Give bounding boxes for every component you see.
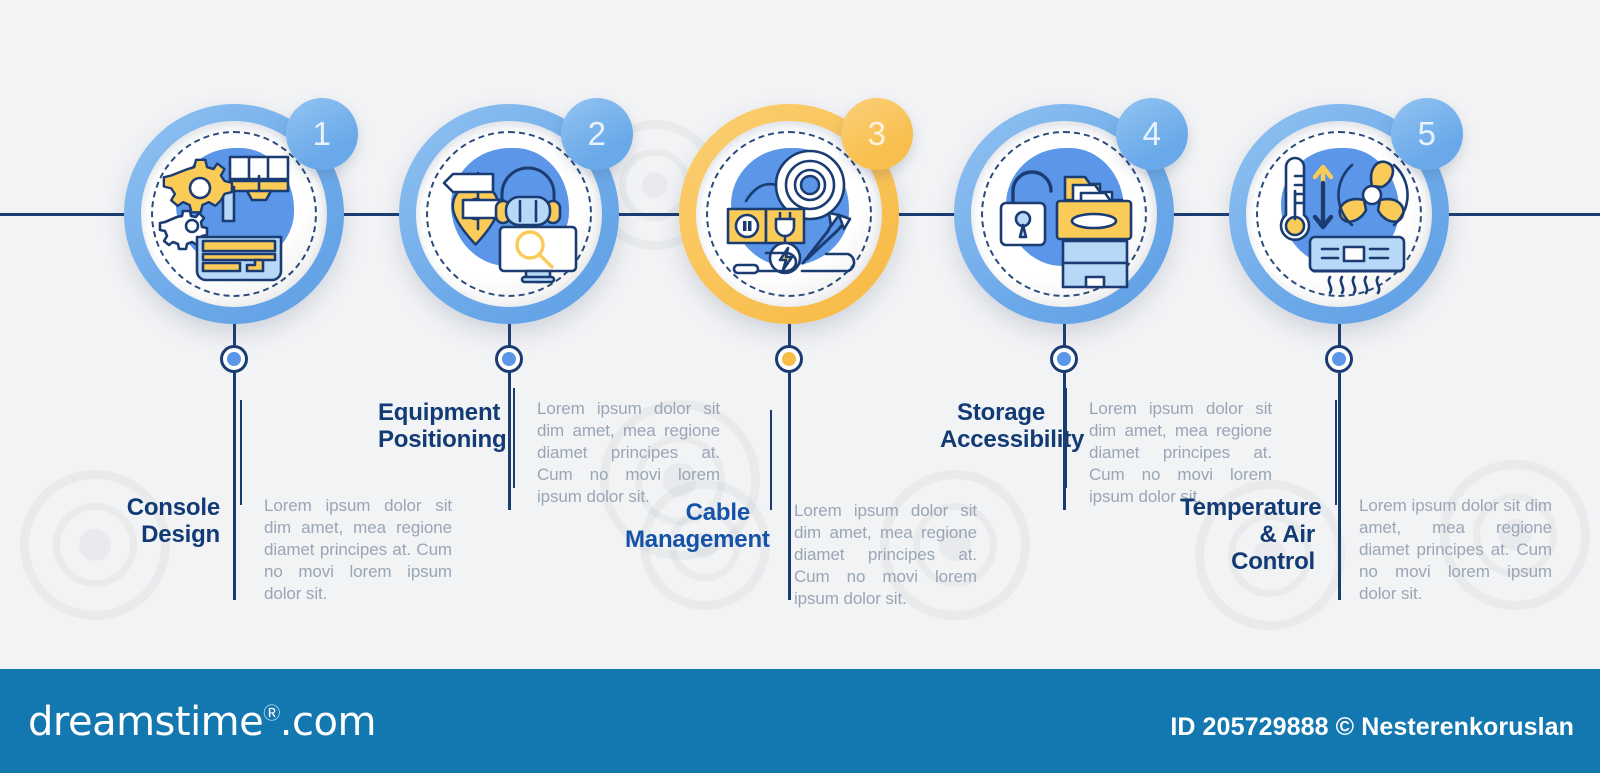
connector-dot-fill	[502, 352, 516, 366]
step-number-badge-3: 3	[841, 98, 913, 170]
registered-icon: Ⓡ	[263, 704, 280, 724]
step-number-badge-4: 4	[1116, 98, 1188, 170]
connector-dot-3[interactable]	[775, 345, 803, 373]
step-number-badge-2: 2	[561, 98, 633, 170]
connector-dot-4[interactable]	[1050, 345, 1078, 373]
step-text-5: Temperature & Air Control Lorem ipsum do…	[1180, 495, 1580, 605]
connector-dot-5[interactable]	[1325, 345, 1353, 373]
step-node-2[interactable]: 2	[399, 104, 619, 324]
step-node-3[interactable]: 3	[679, 104, 899, 324]
logo-tld: .com	[280, 699, 376, 745]
step-node-5[interactable]: 5	[1229, 104, 1449, 324]
dreamstime-logo[interactable]: dreamstimeⓇ.com	[28, 699, 376, 745]
step-title-5: Temperature & Air Control	[1180, 495, 1335, 576]
step-node-4[interactable]: 4	[954, 104, 1174, 324]
connector-dot-fill	[1332, 352, 1346, 366]
step-body-1: Lorem ipsum dolor sit dim amet, mea regi…	[242, 495, 452, 605]
step-title-4: Storage Accessibility	[940, 400, 1065, 454]
step-text-3: Cable Management Lorem ipsum dolor sit d…	[625, 500, 1000, 610]
step-divider	[240, 400, 242, 505]
connector-dot-fill	[227, 352, 241, 366]
storage-accessibility-icon	[981, 131, 1147, 297]
step-body-2: Lorem ipsum dolor sit dim amet, mea regi…	[515, 398, 720, 508]
logo-word: dreamstime	[28, 699, 263, 745]
connector-dot-fill	[782, 352, 796, 366]
infographic-stage: 1	[0, 0, 1600, 773]
step-title-2: Equipment Positioning	[378, 400, 513, 454]
temperature-air-control-icon	[1256, 131, 1422, 297]
connector-dot-1[interactable]	[220, 345, 248, 373]
infographic-canvas: 1	[0, 0, 1600, 669]
step-text-1: Console Design Lorem ipsum dolor sit dim…	[125, 495, 455, 605]
step-divider	[770, 410, 772, 510]
step-body-3: Lorem ipsum dolor sit dim amet, mea regi…	[772, 500, 977, 610]
equipment-positioning-icon	[426, 131, 592, 297]
console-design-icon	[151, 131, 317, 297]
step-number-badge-5: 5	[1391, 98, 1463, 170]
step-body-5: Lorem ipsum dolor sit dim amet, mea regi…	[1337, 495, 1552, 605]
image-credit: ID 205729888 © Nesterenkoruslan	[1170, 713, 1574, 742]
step-node-1[interactable]: 1	[124, 104, 344, 324]
step-number-badge-1: 1	[286, 98, 358, 170]
step-title-1: Console Design	[125, 495, 240, 549]
step-text-4: Storage Accessibility Lorem ipsum dolor …	[940, 400, 1290, 508]
stock-footer-bar: dreamstimeⓇ.com ID 205729888 © Nesterenk…	[0, 669, 1600, 773]
connector-dot-fill	[1057, 352, 1071, 366]
step-body-4: Lorem ipsum dolor sit dim amet, mea regi…	[1067, 398, 1272, 508]
cable-management-icon	[706, 131, 872, 297]
step-text-2: Equipment Positioning Lorem ipsum dolor …	[378, 400, 728, 508]
step-title-3: Cable Management	[625, 500, 770, 554]
connector-dot-2[interactable]	[495, 345, 523, 373]
step-divider	[1335, 400, 1337, 505]
